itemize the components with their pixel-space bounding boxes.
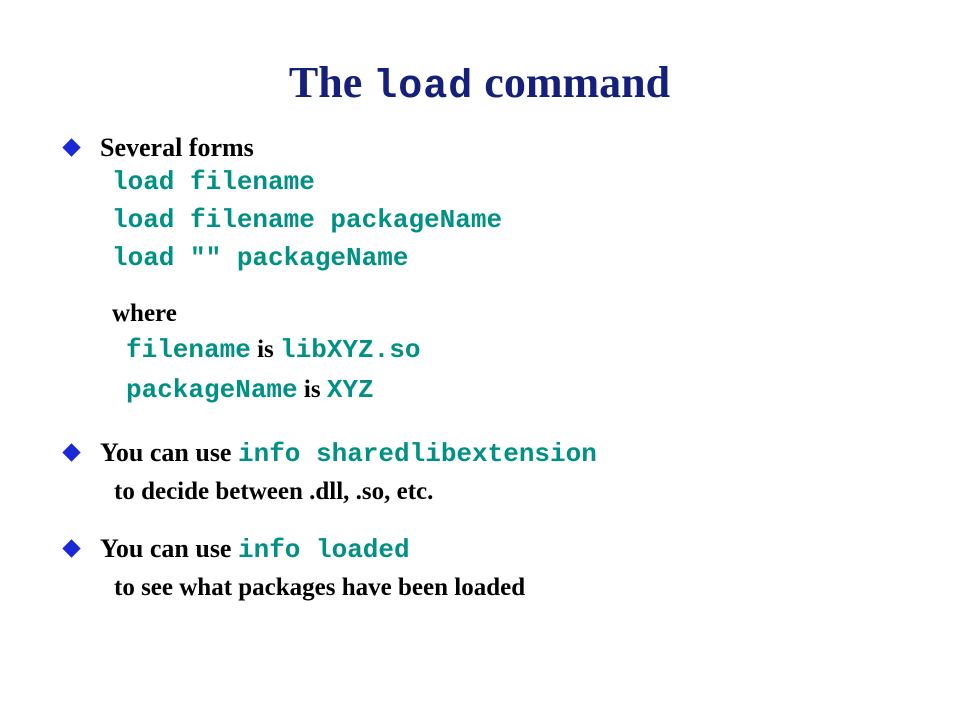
definition-verb-filename-word: is [257, 336, 274, 363]
code-line-load-filename: load filename [112, 163, 944, 201]
bullet-item-loaded: You can use info loaded [64, 533, 944, 566]
heading-code-loaded: info loaded [238, 535, 410, 565]
slide-canvas: The load command Several forms load file… [0, 0, 959, 719]
diamond-bullet-icon [62, 138, 80, 156]
diamond-bullet-icon [62, 539, 80, 557]
where-label: where [112, 297, 944, 331]
sub-line-loaded: to see what packages have been loaded [64, 572, 944, 604]
definition-value-filename: libXYZ.so [280, 335, 420, 365]
where-block: where filename is libXYZ.so packageName … [64, 297, 944, 411]
code-block-load-forms: load filename load filename packageName … [64, 163, 944, 277]
slide-body: Several forms load filename load filenam… [0, 0, 959, 719]
definition-value-packagename: XYZ [327, 375, 374, 405]
bullet-item-several-forms: Several forms [64, 132, 944, 163]
heading-code-sharedlibextension: info sharedlibextension [238, 439, 597, 469]
diamond-bullet-icon [62, 443, 80, 461]
definition-filename: filename is libXYZ.so [112, 331, 944, 371]
bullet-group-several-forms: Several forms load filename load filenam… [64, 132, 944, 411]
heading-prefix-loaded: You can use [100, 534, 238, 563]
bullet-group-sharedlibextension: You can use info sharedlibextension to d… [64, 437, 944, 508]
definition-verb-packagename-word: is [304, 376, 321, 403]
bullet-heading-several-forms: Several forms [100, 132, 944, 163]
definition-packagename: packageName is XYZ [112, 371, 944, 411]
code-line-load-emptystring-packagename: load "" packageName [112, 239, 944, 277]
bullet-heading-loaded: You can use info loaded [100, 533, 944, 566]
definition-term-filename: filename [126, 335, 251, 365]
sub-line-sharedlibextension: to decide between .dll, .so, etc. [64, 476, 944, 508]
code-line-load-filename-packagename: load filename packageName [112, 201, 944, 239]
heading-prefix-sharedlibextension: You can use [100, 438, 238, 467]
bullet-group-loaded: You can use info loaded to see what pack… [64, 533, 944, 604]
bullet-heading-sharedlibextension: You can use info sharedlibextension [100, 437, 944, 470]
bullet-item-sharedlibextension: You can use info sharedlibextension [64, 437, 944, 470]
definition-term-packagename: packageName [126, 375, 298, 405]
